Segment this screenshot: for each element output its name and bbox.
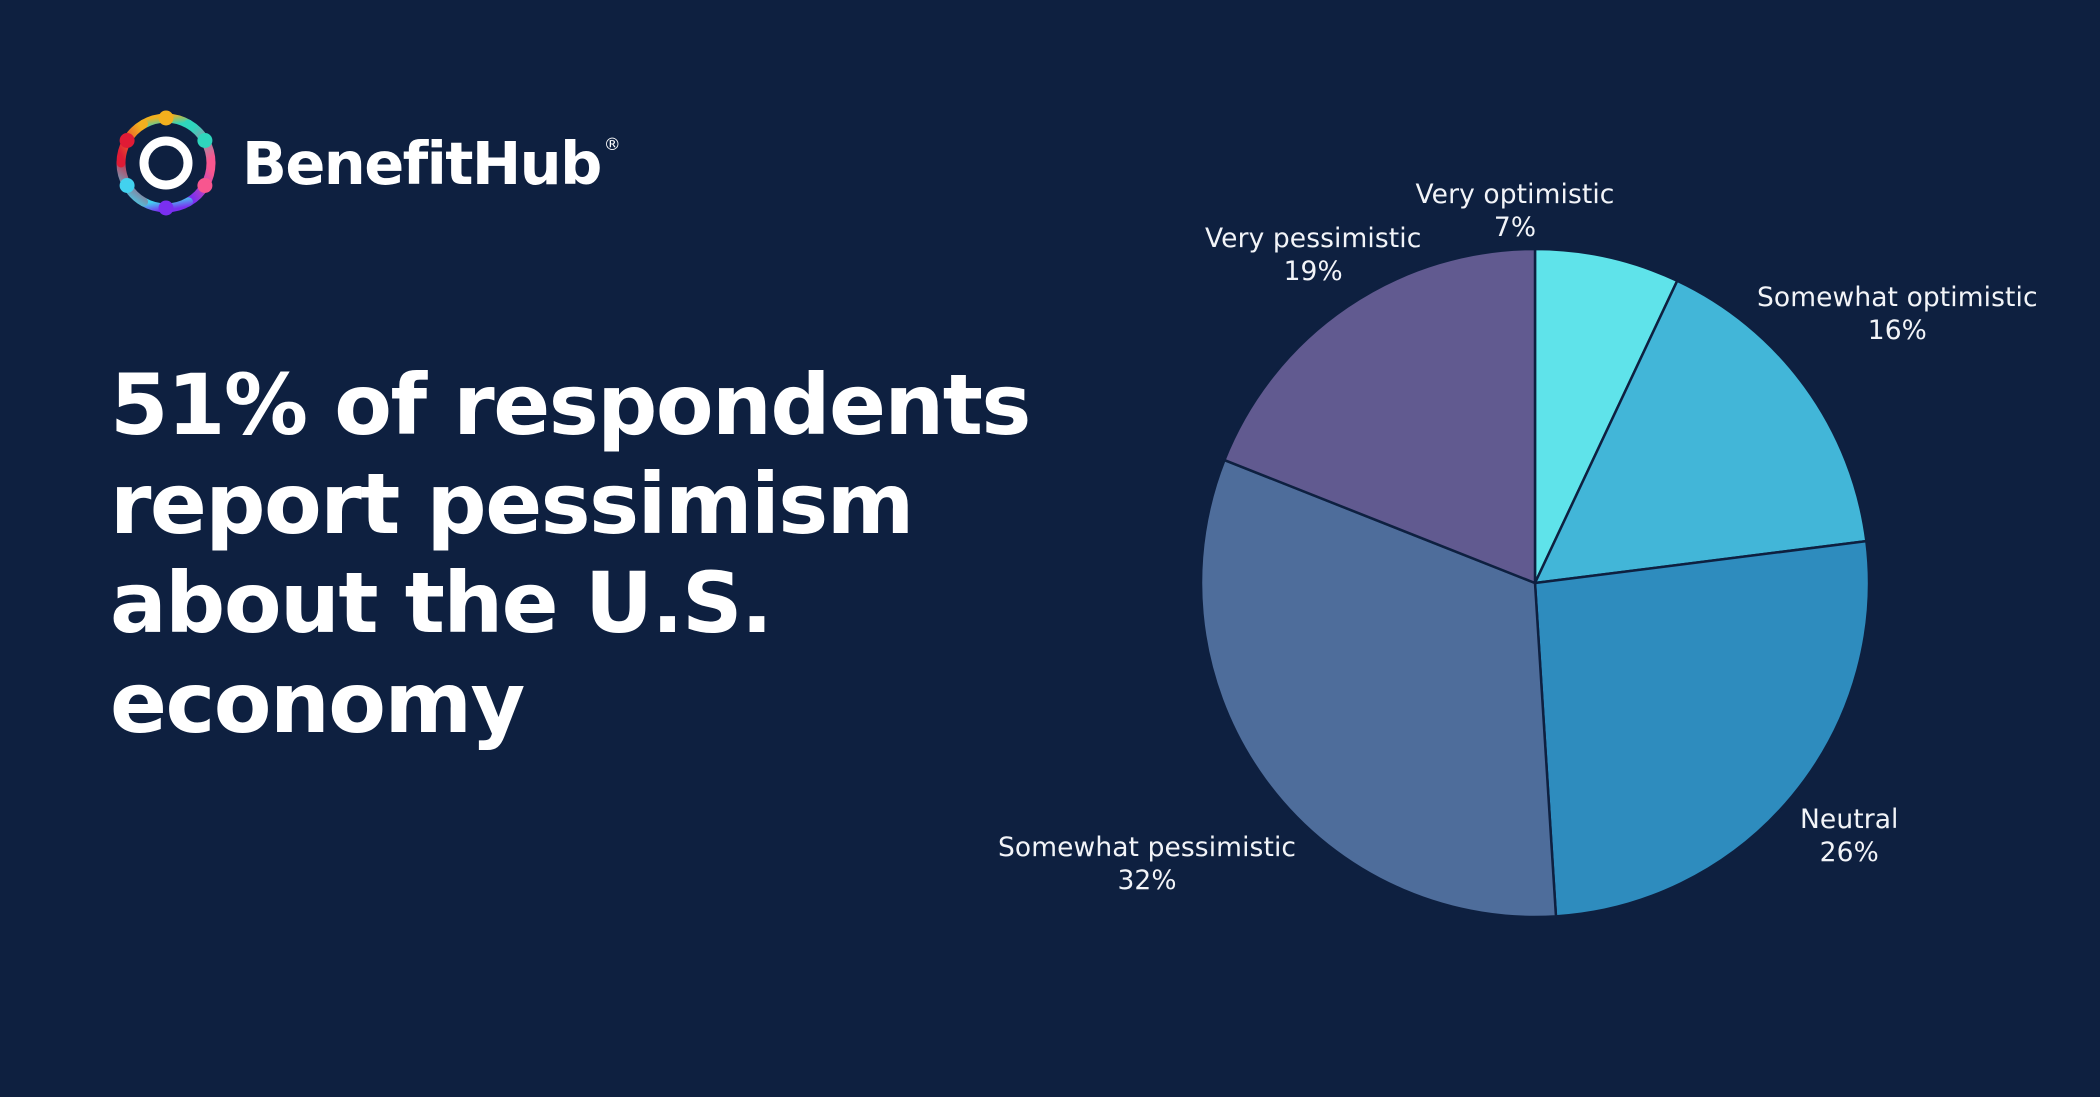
pie-label-somewhat-optimistic: Somewhat optimistic 16% [1757,281,2038,348]
pie-slice [1535,281,1866,583]
benefithub-ring-logo-icon [112,109,220,217]
brand-logo[interactable]: BenefitHub ® [112,108,621,218]
pie-label-neutral: Neutral 26% [1800,803,1899,870]
pie-slice-group [1201,249,1869,917]
slide-canvas: BenefitHub ® 51% of respondents report p… [0,0,2100,1097]
pie-slice [1224,249,1535,583]
page-title: 51% of respondents report pessimism abou… [110,356,1100,752]
registered-trademark-icon: ® [604,137,621,154]
pie-label-somewhat-pessimistic: Somewhat pessimistic 32% [998,831,1296,898]
pie-slice [1535,541,1869,916]
pie-label-very-pessimistic: Very pessimistic 19% [1205,222,1421,289]
brand-name: BenefitHub [242,134,601,193]
pie-slice [1535,249,1677,583]
pie-chart-svg [1150,198,1920,968]
pie-slice [1201,460,1556,917]
pie-label-very-optimistic: Very optimistic 7% [1416,178,1615,245]
